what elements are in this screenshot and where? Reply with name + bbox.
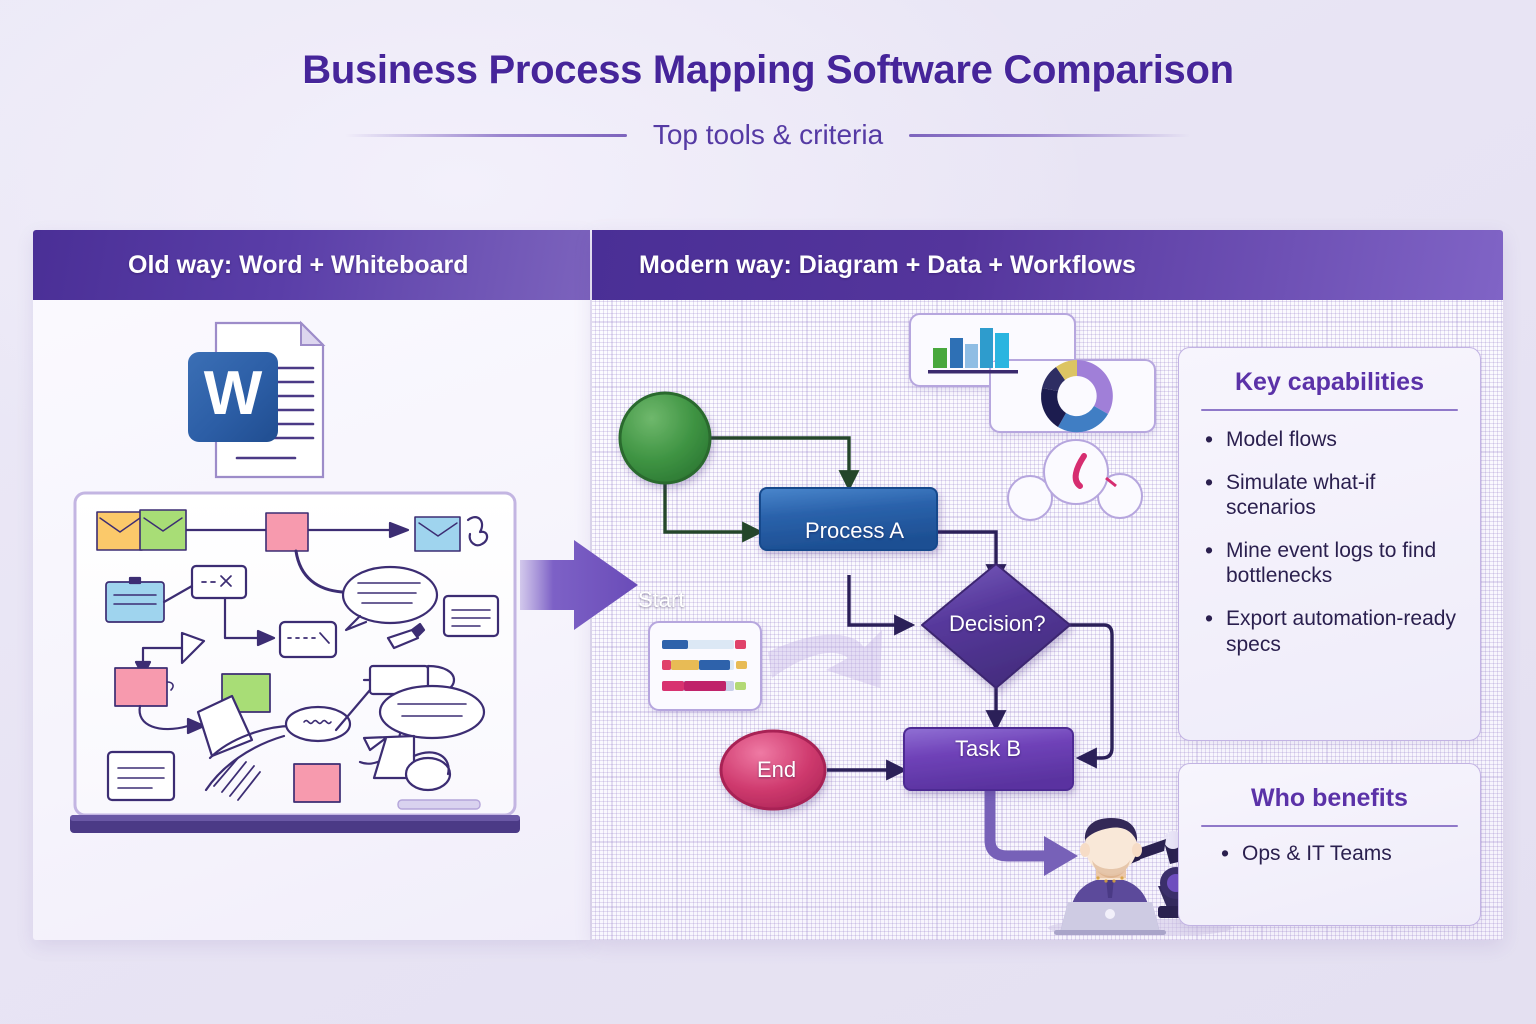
word-document-icon: W	[175, 310, 355, 490]
panel-modern-way-header: Modern way: Diagram + Data + Workflows	[592, 230, 1503, 300]
node-decision	[922, 564, 1070, 688]
subtitle-rule-right	[909, 134, 1191, 137]
list-item: Mine event logs to find bottlenecks	[1203, 538, 1460, 589]
subtitle-row: Top tools & criteria	[0, 119, 1536, 151]
who-benefits-card: Who benefits Ops & IT Teams	[1178, 763, 1481, 926]
edge-start-to-process-a-top	[709, 438, 849, 488]
node-process-a	[760, 488, 937, 550]
gantt-widget	[649, 622, 761, 710]
right-arrow-icon	[512, 520, 662, 650]
list-item: Ops & IT Teams	[1219, 841, 1460, 867]
list-item: Simulate what-if scenarios	[1203, 470, 1460, 521]
key-capabilities-list: Model flows Simulate what-if scenarios M…	[1179, 411, 1480, 657]
key-capabilities-title: Key capabilities	[1179, 348, 1480, 397]
svg-text:W: W	[204, 359, 263, 428]
node-task-b	[904, 728, 1073, 790]
edge-process-a-to-decision-left	[849, 575, 912, 625]
gauge-icon	[1008, 440, 1142, 520]
list-item: Export automation-ready specs	[1203, 606, 1460, 657]
header: Business Process Mapping Software Compar…	[0, 0, 1536, 205]
subtitle-rule-left	[345, 134, 627, 137]
page-subtitle: Top tools & criteria	[653, 119, 883, 151]
page-title: Business Process Mapping Software Compar…	[0, 48, 1536, 93]
flow-ghost-arrow	[768, 630, 882, 688]
list-item: Model flows	[1203, 427, 1460, 453]
who-benefits-list: Ops & IT Teams	[1179, 827, 1480, 867]
laptop-icon	[1054, 902, 1166, 935]
panel-old-way-header: Old way: Word + Whiteboard	[33, 230, 590, 300]
edge-start-to-process-a-left	[665, 477, 760, 532]
key-capabilities-card: Key capabilities Model flows Simulate wh…	[1178, 347, 1481, 741]
node-start	[620, 393, 710, 483]
charts-widget	[910, 314, 1155, 432]
who-benefits-title: Who benefits	[1179, 764, 1480, 813]
node-end	[721, 731, 825, 809]
messy-whiteboard-sketch	[70, 490, 520, 850]
